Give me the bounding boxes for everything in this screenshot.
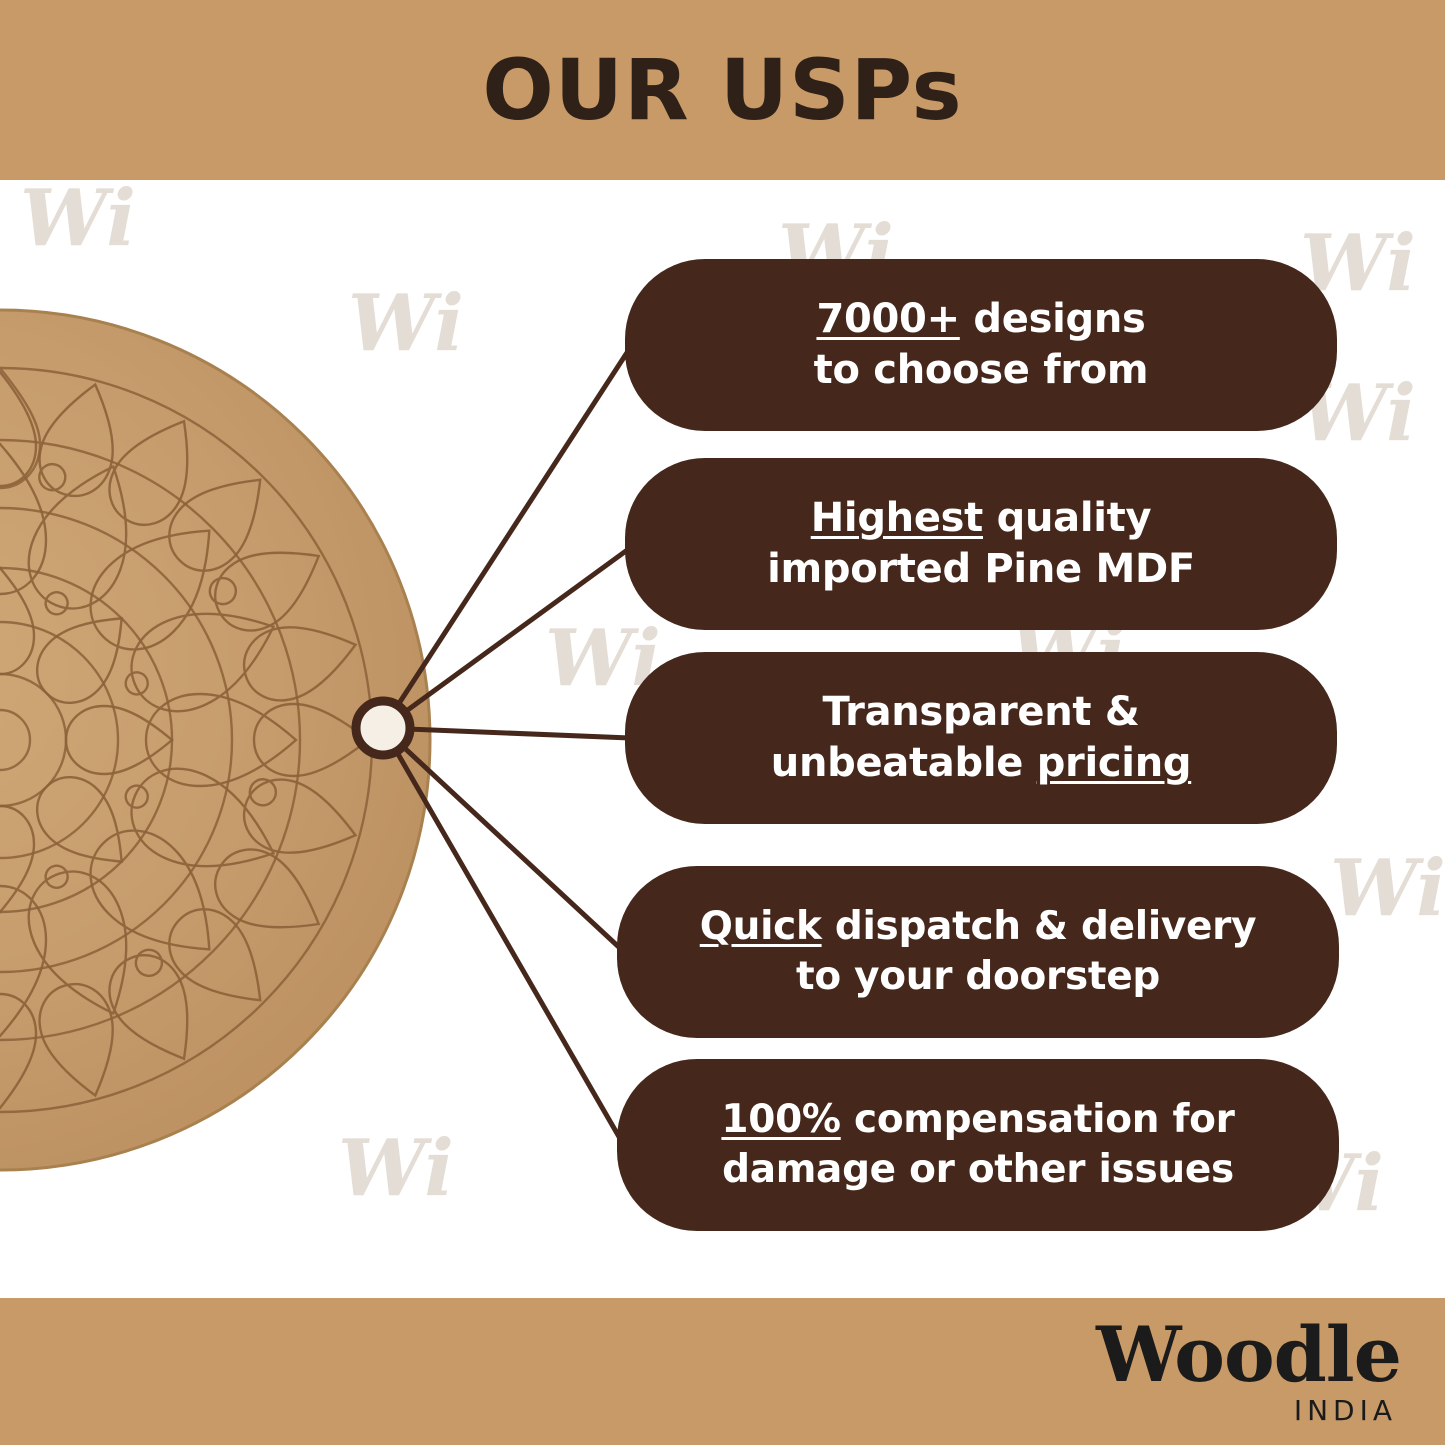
page-title: OUR USPs <box>0 0 1445 180</box>
usp-card-text: Transparent & unbeatable pricing <box>771 687 1191 789</box>
usp-emphasis: pricing <box>1037 740 1192 786</box>
mandala-wood-disc <box>0 300 435 1180</box>
brand-logo: Woodle INDIA <box>1096 1317 1401 1425</box>
usp-line2: to choose from <box>814 347 1149 393</box>
watermark-mark: Wi <box>20 180 136 258</box>
connector-line-3 <box>383 728 630 738</box>
usp-emphasis: Quick <box>700 904 822 949</box>
hub-node <box>356 701 410 755</box>
usp-line2-pre: unbeatable <box>771 740 1037 786</box>
usp-line1-rest: compensation for <box>841 1097 1235 1142</box>
connector-line-4 <box>383 728 622 950</box>
brand-logo-sub: INDIA <box>1096 1397 1397 1425</box>
usp-card-text: Highest quality imported Pine MDF <box>767 493 1195 595</box>
usp-emphasis: 100% <box>721 1097 840 1142</box>
usp-card-text: 100% compensation for damage or other is… <box>721 1095 1234 1195</box>
usp-card-text: 7000+ designs to choose from <box>814 294 1149 396</box>
connector-line-2 <box>383 548 630 728</box>
brand-logo-name: Woodle <box>1096 1317 1401 1393</box>
watermark-mark: Wi <box>1330 850 1445 928</box>
usp-line1-rest: designs <box>960 296 1146 342</box>
watermark-mark: Wi <box>348 285 464 363</box>
usp-line1-rest: Transparent & <box>823 689 1140 735</box>
usp-card-dispatch: Quick dispatch & delivery to your doorst… <box>617 866 1339 1038</box>
usp-line2: to your doorstep <box>796 954 1160 999</box>
watermark-mark: Wi <box>338 1130 454 1208</box>
usp-emphasis: Highest <box>811 495 983 541</box>
usp-line1-rest: dispatch & delivery <box>822 904 1257 949</box>
connector-line-5 <box>383 728 622 1142</box>
usp-line2: damage or other issues <box>722 1147 1234 1192</box>
usp-line1-rest: quality <box>983 495 1151 541</box>
connector-line-1 <box>383 348 630 728</box>
usp-card-text: Quick dispatch & delivery to your doorst… <box>700 902 1256 1002</box>
usp-emphasis: 7000+ <box>816 296 959 342</box>
usp-line2: imported Pine MDF <box>767 546 1195 592</box>
poster-canvas: Wi Wi Wi Wi Wi Wi Wi Wi Wi Wi <box>0 0 1445 1445</box>
usp-card-quality: Highest quality imported Pine MDF <box>625 458 1337 630</box>
usp-card-pricing: Transparent & unbeatable pricing <box>625 652 1337 824</box>
usp-card-compensation: 100% compensation for damage or other is… <box>617 1059 1339 1231</box>
usp-card-designs: 7000+ designs to choose from <box>625 259 1337 431</box>
